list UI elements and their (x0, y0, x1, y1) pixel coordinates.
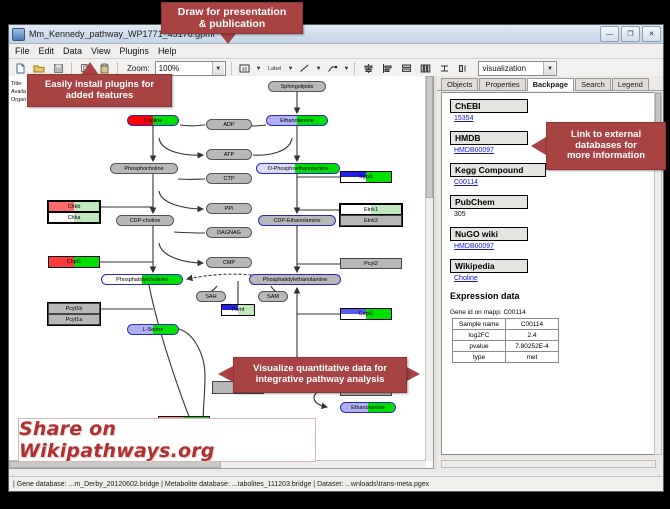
expression-value: 2.4 (506, 330, 559, 341)
db-link-nugo-wiki[interactable]: HMDB00097 (454, 243, 655, 250)
node-cdp-choline[interactable]: CDP-choline (116, 215, 174, 226)
callout-line-1: Easily install plugins for (45, 80, 154, 91)
zoom-value: 100% (159, 64, 179, 73)
node-sam[interactable]: SAM (258, 291, 288, 302)
expression-value: 7.80252E-4 (506, 341, 559, 352)
tab-legend[interactable]: Legend (612, 78, 649, 90)
node-label: Ethanolamine (351, 405, 385, 411)
callout-external-databases: Link to external databases for more info… (546, 122, 666, 170)
align-left-icon[interactable] (379, 61, 395, 77)
node-chpt1[interactable]: Chpt1 (48, 256, 100, 268)
node-label: Ethanolamine (280, 118, 314, 124)
node-sah[interactable]: SAH (196, 291, 226, 302)
align-center-icon[interactable] (360, 61, 376, 77)
node-label: CMP (223, 260, 235, 266)
node-sgpl1[interactable]: Sgpl1 (340, 171, 392, 183)
menu-edit[interactable]: Edit (39, 46, 55, 56)
node-chka[interactable]: Chka (48, 212, 100, 223)
menu-view[interactable]: View (91, 46, 110, 56)
node-ethanolamine-right[interactable]: Ethanolamine (340, 402, 396, 413)
callout-visualize-data: Visualize quantitative data for integrat… (233, 357, 407, 393)
menu-help[interactable]: Help (158, 46, 177, 56)
node-label: Pcyt2 (364, 261, 378, 267)
node-label: SAM (267, 294, 279, 300)
node-label: Pcyt1a (66, 317, 83, 323)
statusbar-text: | Gene database: ...m_Derby_20120602.bri… (13, 481, 429, 488)
visualization-combobox[interactable]: visualization ▼ (478, 61, 557, 76)
callout-line-1: Link to external (571, 130, 641, 141)
node-pcyt1b[interactable]: Pcyt1b (48, 303, 100, 314)
db-header-kegg-compound: Kegg Compound (450, 163, 546, 177)
tab-backpage[interactable]: Backpage (527, 78, 574, 91)
interaction-icon[interactable] (325, 61, 341, 77)
visualization-value: visualization (482, 64, 526, 73)
node-pcyt1a[interactable]: Pcyt1a (48, 314, 100, 325)
tab-properties[interactable]: Properties (479, 78, 525, 90)
node-label: SAH (205, 294, 216, 300)
toolbar-separator-3 (231, 62, 232, 75)
db-link-wikipedia[interactable]: Choline (454, 275, 655, 282)
node-label: Sgpl1 (359, 174, 373, 180)
menu-plugins[interactable]: Plugins (119, 46, 149, 56)
statusbar: | Gene database: ...m_Derby_20120602.bri… (9, 476, 663, 491)
close-button[interactable]: ✕ (642, 26, 661, 42)
node-label: Sphingolipids (281, 84, 314, 90)
node-label: Choline (144, 118, 163, 124)
callout-databases-arrow-icon (531, 137, 546, 155)
line-icon[interactable] (297, 61, 313, 77)
node-label: ATP (224, 152, 234, 158)
pathway-drawing: Title: Availa Organ (9, 76, 433, 469)
same-width-icon[interactable] (436, 61, 452, 77)
side-panel-horizontal-scrollbar[interactable] (441, 460, 656, 468)
table-row: log2FC 2.4 (453, 330, 559, 341)
callout-install-plugins: Easily install plugins for added feature… (27, 74, 172, 107)
node-label: Phosphocholine (124, 166, 163, 172)
expression-value: C00114 (506, 319, 559, 330)
callout-visualize-arrow-left-icon (218, 366, 233, 382)
callout-line-2: & publication (199, 18, 266, 30)
app-icon (12, 28, 25, 41)
node-ctp[interactable]: CTP (206, 173, 252, 184)
menubar: File Edit Data View Plugins Help (9, 44, 663, 59)
maximize-button[interactable]: ❐ (621, 26, 640, 42)
label-icon[interactable]: Label (265, 61, 285, 77)
chevron-down-icon[interactable]: ▼ (212, 62, 224, 75)
visualization-chevron-down-icon[interactable]: ▼ (543, 62, 555, 75)
node-label: CTP (224, 176, 235, 182)
node-label: Chka (68, 215, 81, 221)
toolbar-separator-4 (354, 62, 355, 75)
db-link-kegg-compound[interactable]: C00114 (454, 179, 655, 186)
pathway-canvas[interactable]: Title: Availa Organ (9, 76, 434, 469)
node-etnk1[interactable]: Etnk1 (340, 204, 402, 215)
same-height-icon[interactable] (455, 61, 471, 77)
callout-line-1: Draw for presentation (178, 6, 287, 18)
node-label: Etnk2 (364, 218, 378, 224)
node-label: Phosphatidylethanolamine (263, 277, 328, 283)
tab-search[interactable]: Search (575, 78, 611, 90)
share-banner-text: Share on Wikipathways.org (19, 418, 315, 462)
svg-text:ab: ab (241, 67, 247, 73)
new-document-icon[interactable] (12, 61, 28, 77)
node-phosphatidylethanolamine[interactable]: Phosphatidylethanolamine (249, 274, 341, 285)
expression-key: log2FC (453, 330, 506, 341)
node-chkb[interactable]: Chkb (48, 201, 100, 212)
zoom-label: Zoom: (127, 64, 150, 73)
db-header-wikipedia: Wikipedia (450, 259, 528, 273)
db-link-chebi[interactable]: 15354 (454, 115, 655, 122)
db-header-nugo-wiki: NuGO wiki (450, 227, 528, 241)
expression-key: Sample name (453, 319, 506, 330)
expression-key: type (453, 352, 506, 363)
table-row: type met (453, 352, 559, 363)
table-row: pvalue 7.80252E-4 (453, 341, 559, 352)
callout-line-3: more information (567, 151, 645, 162)
node-phosphatidylcholines[interactable]: Phosphatidylcholines (101, 274, 183, 285)
node-cdp-ethanolamine[interactable]: CDP-Ethanolamine (258, 215, 336, 226)
window-controls: — ❐ ✕ (600, 26, 661, 42)
node-label: Cept1 (359, 311, 374, 317)
side-panel-tabs: Objects Properties Backpage Search Legen… (437, 76, 663, 91)
callout-line-2: integrative pathway analysis (256, 375, 385, 386)
callout-line-2: added features (66, 91, 134, 102)
node-ppi[interactable]: PPi (206, 203, 252, 214)
callout-draw-for-presentation: Draw for presentation & publication (161, 2, 303, 34)
db-header-pubchem: PubChem (450, 195, 528, 209)
interaction-dropdown-icon[interactable]: ▼ (344, 66, 350, 72)
expression-table: Sample name C00114 log2FC 2.4 pvalue 7.8… (452, 318, 559, 363)
node-pemt[interactable]: Pemt (221, 304, 255, 316)
label-dropdown-icon[interactable]: ▼ (288, 66, 294, 72)
window-titlebar: Mm_Kennedy_pathway_WP1771_45176.gpml — ❐… (9, 25, 663, 44)
node-label: DAGNAG (217, 230, 241, 236)
menu-data[interactable]: Data (63, 46, 82, 56)
node-phosphocholine[interactable]: Phosphocholine (110, 163, 178, 174)
node-label: O-Phosphoethanolamine (268, 166, 329, 172)
node-label: Pemt (232, 307, 245, 313)
node-label: CDP-choline (130, 218, 161, 224)
gene-id-on-mapp: Gene id on mapp: C00114 (450, 309, 655, 316)
node-label: Phosphatidylcholines (116, 277, 168, 283)
expression-value: met (506, 352, 559, 363)
distribute-icon[interactable] (417, 61, 433, 77)
node-label: CDP-Ethanolamine (273, 218, 320, 224)
share-banner: Share on Wikipathways.org (18, 418, 316, 462)
menu-file[interactable]: File (15, 46, 30, 56)
stack-vertical-icon[interactable] (398, 61, 414, 77)
callout-visualize-arrow-right-icon (405, 366, 420, 382)
node-choline-top[interactable]: Choline (127, 115, 179, 126)
node-dagnag[interactable]: DAGNAG (206, 227, 252, 238)
db-header-chebi: ChEBI (450, 99, 528, 113)
db-value-pubchem: 305 (454, 211, 655, 218)
screenshot-root: Mm_Kennedy_pathway_WP1771_45176.gpml — ❐… (0, 0, 670, 509)
node-cmp[interactable]: CMP (206, 257, 252, 268)
node-label: Chkb (68, 204, 81, 210)
node-label: ADP (223, 122, 234, 128)
datanode-dropdown-icon[interactable]: ▼ (256, 66, 262, 72)
line-dropdown-icon[interactable]: ▼ (316, 66, 322, 72)
node-sphingolipids[interactable]: Sphingolipids (268, 81, 326, 92)
node-pcyt2[interactable]: Pcyt2 (340, 258, 402, 269)
node-l-serine-left[interactable]: L-Serine (127, 324, 179, 335)
node-label: L-Serine (143, 327, 164, 333)
node-label: Chpt1 (67, 259, 82, 265)
datanode-icon[interactable]: ab (237, 61, 253, 77)
node-label: Pcyt1b (66, 306, 83, 312)
node-label: Etnk1 (364, 207, 378, 213)
node-cept1[interactable]: Cept1 (340, 308, 392, 320)
table-row: Sample name C00114 (453, 319, 559, 330)
expression-data-heading: Expression data (450, 291, 655, 301)
minimize-button[interactable]: — (600, 26, 619, 42)
node-o-phosphoethanolamine[interactable]: O-Phosphoethanolamine (256, 163, 340, 174)
expression-key: pvalue (453, 341, 506, 352)
node-atp[interactable]: ATP (206, 149, 252, 160)
node-adp[interactable]: ADP (206, 119, 252, 130)
node-label: PPi (225, 206, 234, 212)
node-etnk2[interactable]: Etnk2 (340, 215, 402, 226)
db-header-hmdb: HMDB (450, 131, 528, 145)
tab-objects[interactable]: Objects (441, 78, 478, 90)
node-ethanolamine[interactable]: Ethanolamine (266, 115, 328, 126)
